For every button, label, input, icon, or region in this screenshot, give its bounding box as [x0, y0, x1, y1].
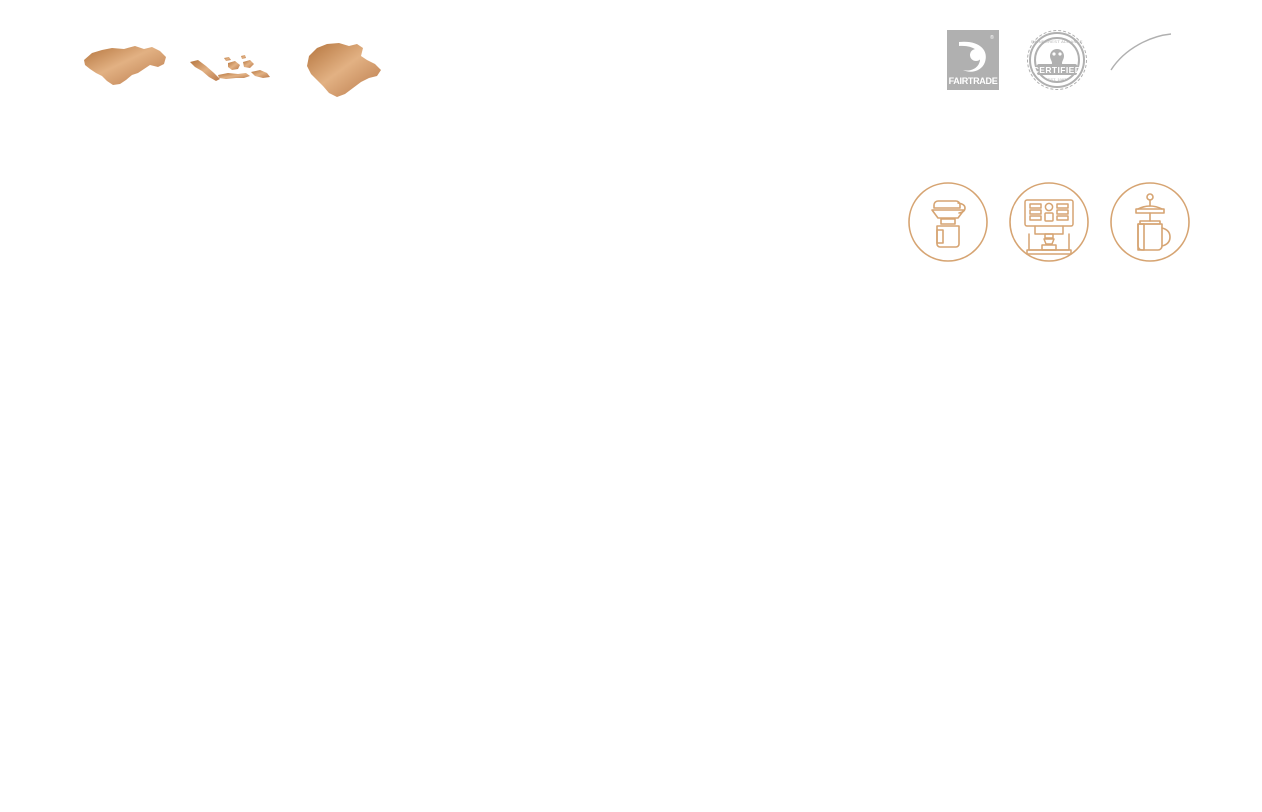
brew-method-cafetiere[interactable]	[1102, 178, 1198, 288]
origin-indonesia	[180, 40, 288, 96]
radar-svg	[742, 300, 1212, 780]
certification-logos: FAIRTRADE ® CERTIFIED RAIN	[940, 28, 1190, 106]
certification-rainforest-alliance: CERTIFIED RAINFOREST ALLIANCE EST. 1987	[1025, 28, 1089, 97]
svg-text:FAIRTRADE: FAIRTRADE	[949, 76, 998, 86]
svg-text:®: ®	[990, 34, 994, 41]
svg-text:CERTIFIED: CERTIFIED	[1033, 65, 1081, 75]
rainforest-alliance-certified-icon: CERTIFIED RAINFOREST ALLIANCE EST. 1987	[1025, 28, 1089, 92]
svg-text:EST. 1987: EST. 1987	[1048, 77, 1067, 82]
brew-method-espresso[interactable]	[1001, 178, 1097, 288]
fairtrade-logo-icon: FAIRTRADE ®	[945, 28, 1001, 92]
brew-method-filter[interactable]	[900, 178, 996, 288]
pour-over-filter-icon	[900, 178, 996, 288]
honduras-map-icon	[80, 40, 170, 92]
certification-fairtrade: FAIRTRADE ®	[945, 28, 1001, 97]
ethiopia-map-icon	[299, 40, 385, 102]
espresso-machine-icon	[1001, 178, 1097, 288]
origin-honduras	[70, 40, 180, 96]
flavour-radar-chart	[742, 300, 1212, 780]
certification-eu-organic	[1105, 28, 1177, 89]
eu-organic-leaf-icon	[1105, 28, 1177, 84]
origin-ethiopia	[288, 40, 396, 106]
indonesia-map-icon	[188, 40, 280, 92]
tasting-notes	[272, 374, 652, 384]
strength-block	[76, 372, 196, 390]
origin-maps	[70, 40, 370, 160]
svg-text:RAINFOREST ALLIANCE: RAINFOREST ALLIANCE	[1031, 39, 1083, 44]
coffee-product-infographic: FAIRTRADE ® CERTIFIED RAIN	[0, 0, 1262, 812]
best-served-methods	[900, 178, 1200, 288]
french-press-icon	[1102, 178, 1198, 288]
